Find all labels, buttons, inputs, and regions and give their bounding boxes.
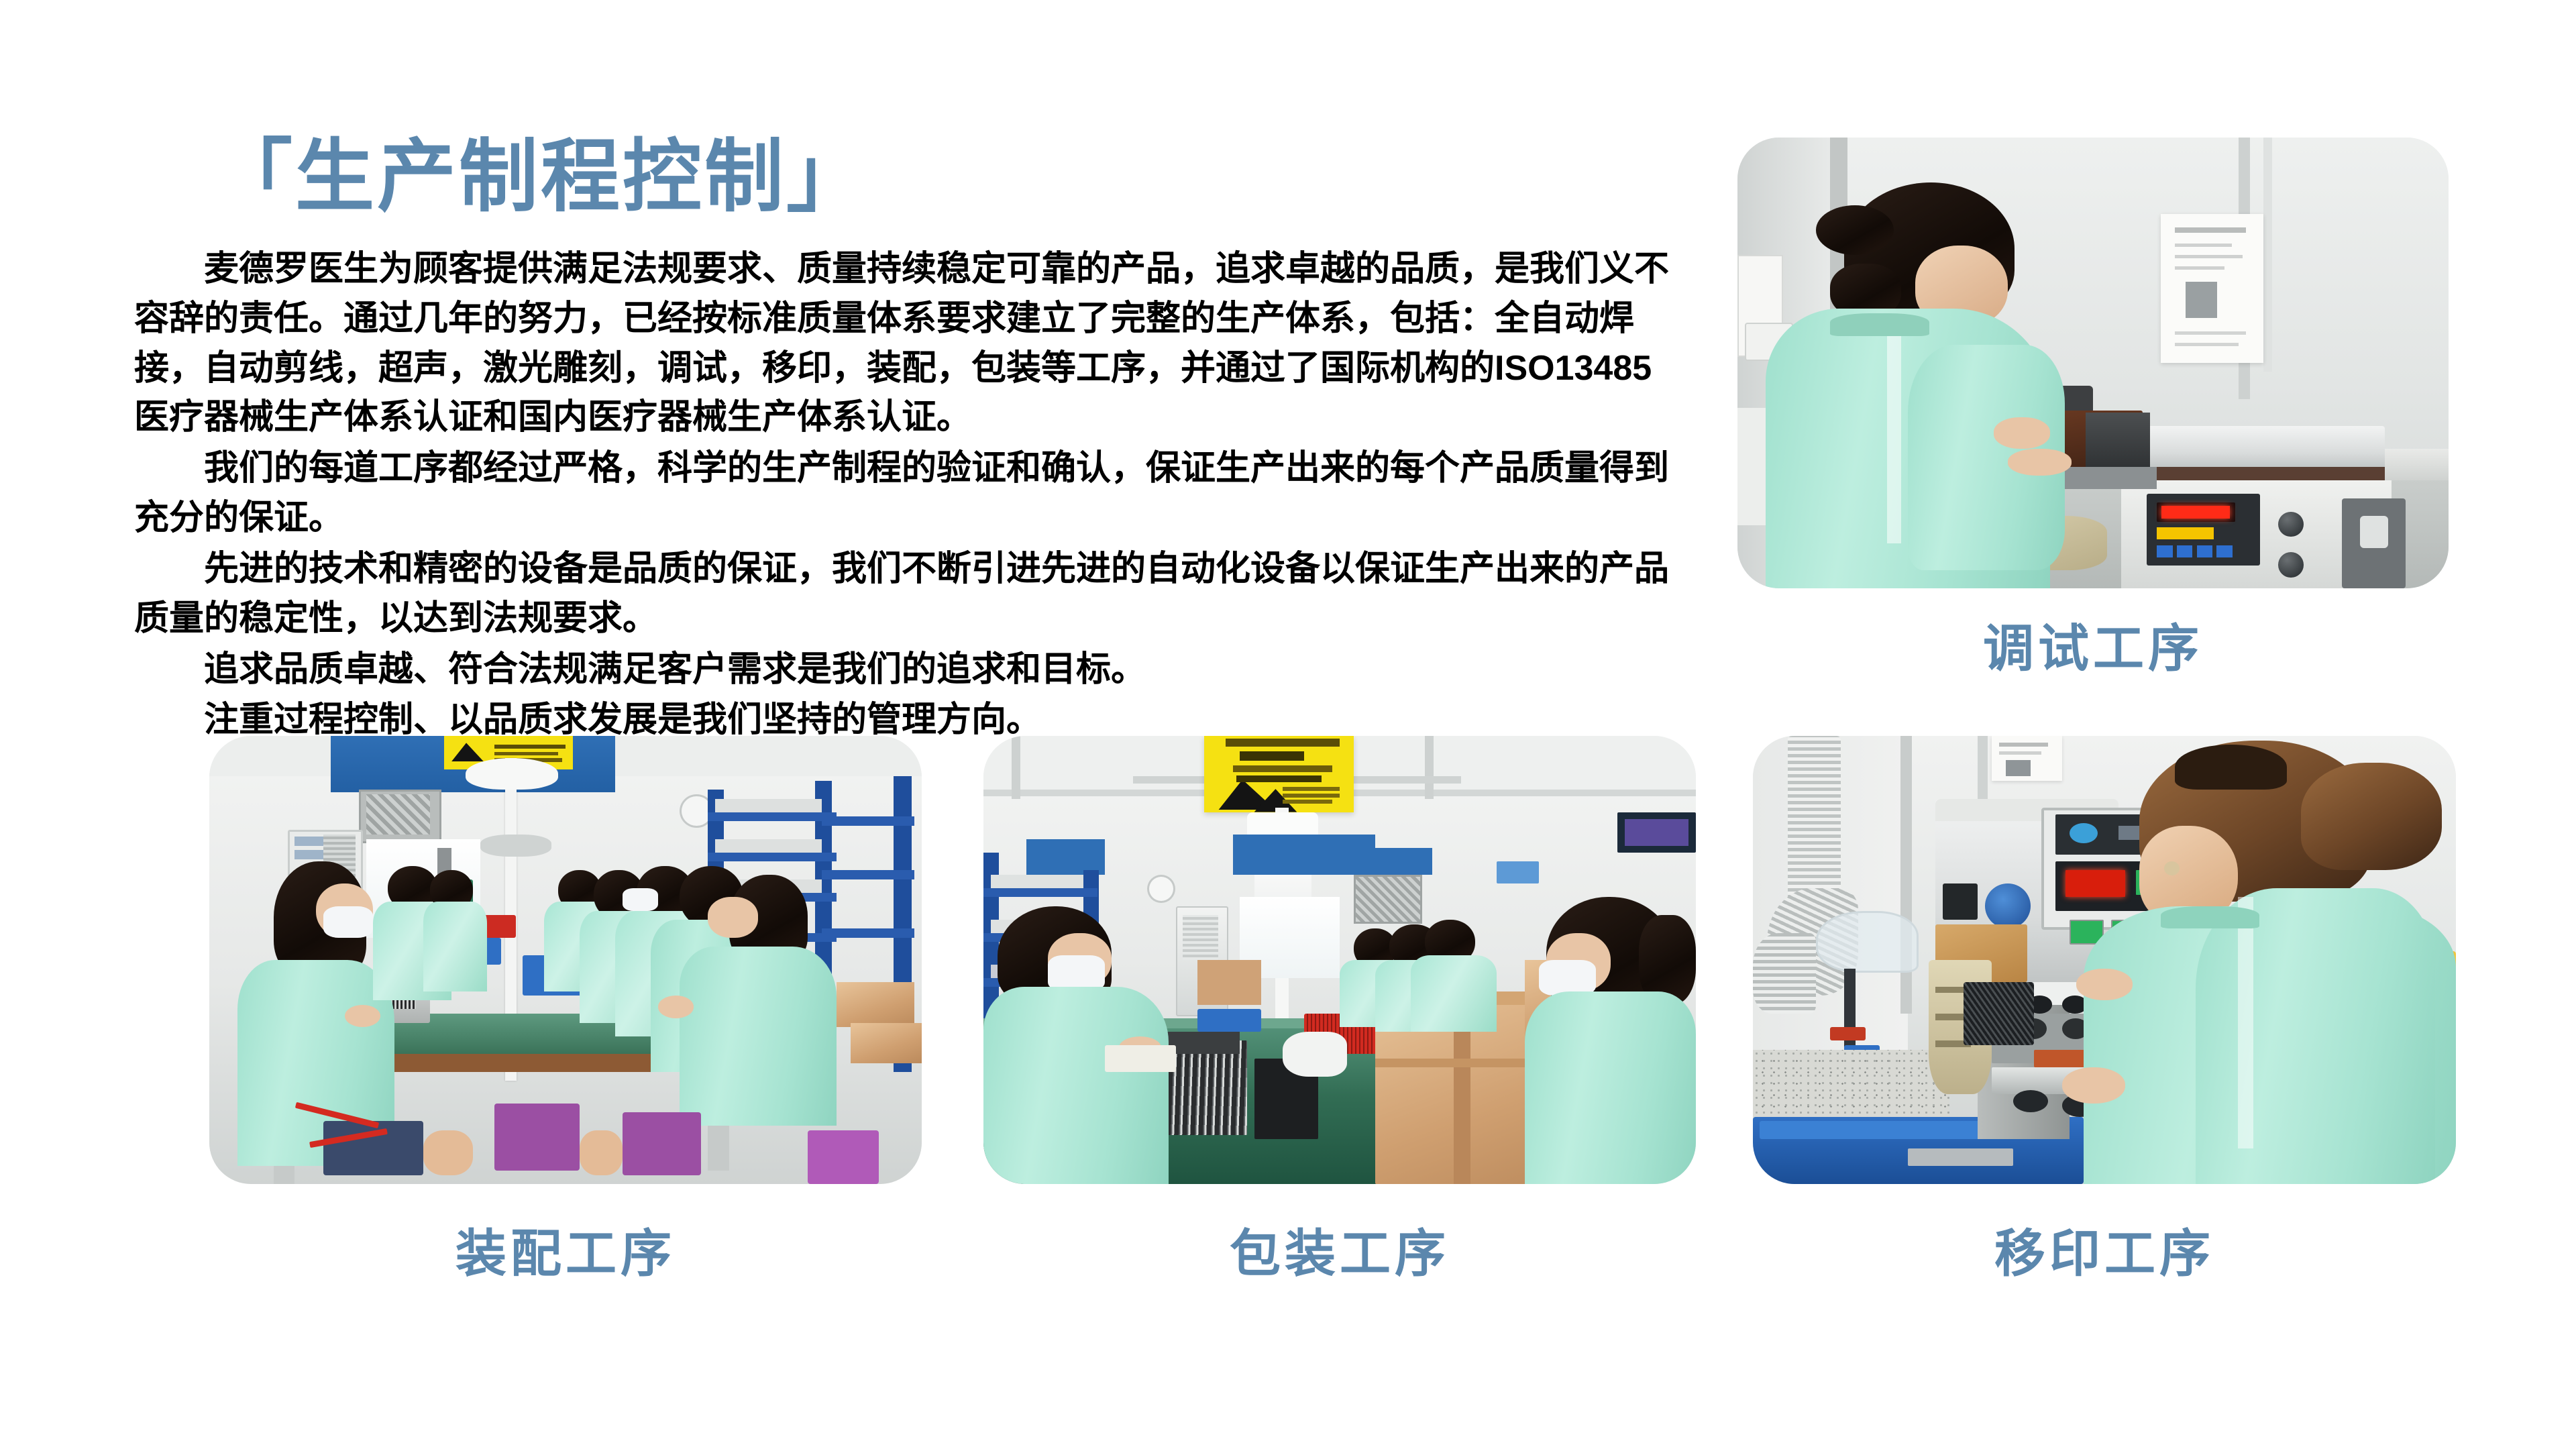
page-title: 「生产制程控制」 bbox=[134, 138, 1670, 217]
body-paragraph-2: 我们的每道工序都经过严格，科学的生产制程的验证和确认，保证生产出来的每个产品质量… bbox=[134, 444, 1670, 543]
slide-canvas: 「生产制程控制」 麦德罗医生为顾客提供满足法规要求、质量持续稳定可靠的产品，追求… bbox=[0, 0, 2576, 1449]
photo-pad-printing-process bbox=[1753, 736, 2456, 1184]
body-paragraph-4: 追求品质卓越、符合法规满足客户需求是我们的追求和目标。 bbox=[134, 645, 1670, 695]
body-paragraph-3: 先进的技术和精密的设备是品质的保证，我们不断引进先进的自动化设备以保证生产出来的… bbox=[134, 545, 1670, 644]
photo-packing-process bbox=[983, 736, 1696, 1184]
body-paragraph-1: 麦德罗医生为顾客提供满足法规要求、质量持续稳定可靠的产品，追求卓越的品质，是我们… bbox=[134, 245, 1670, 443]
photo-assembly-process bbox=[209, 736, 922, 1184]
caption-packing-process: 包装工序 bbox=[983, 1229, 1696, 1280]
text-column: 「生产制程控制」 麦德罗医生为顾客提供满足法规要求、质量持续稳定可靠的产品，追求… bbox=[134, 138, 1670, 747]
caption-pad-printing-process: 移印工序 bbox=[1753, 1229, 2456, 1280]
caption-debugging-process: 调试工序 bbox=[1737, 624, 2449, 675]
caption-assembly-process: 装配工序 bbox=[209, 1229, 922, 1280]
photo-debugging-process bbox=[1737, 138, 2449, 588]
